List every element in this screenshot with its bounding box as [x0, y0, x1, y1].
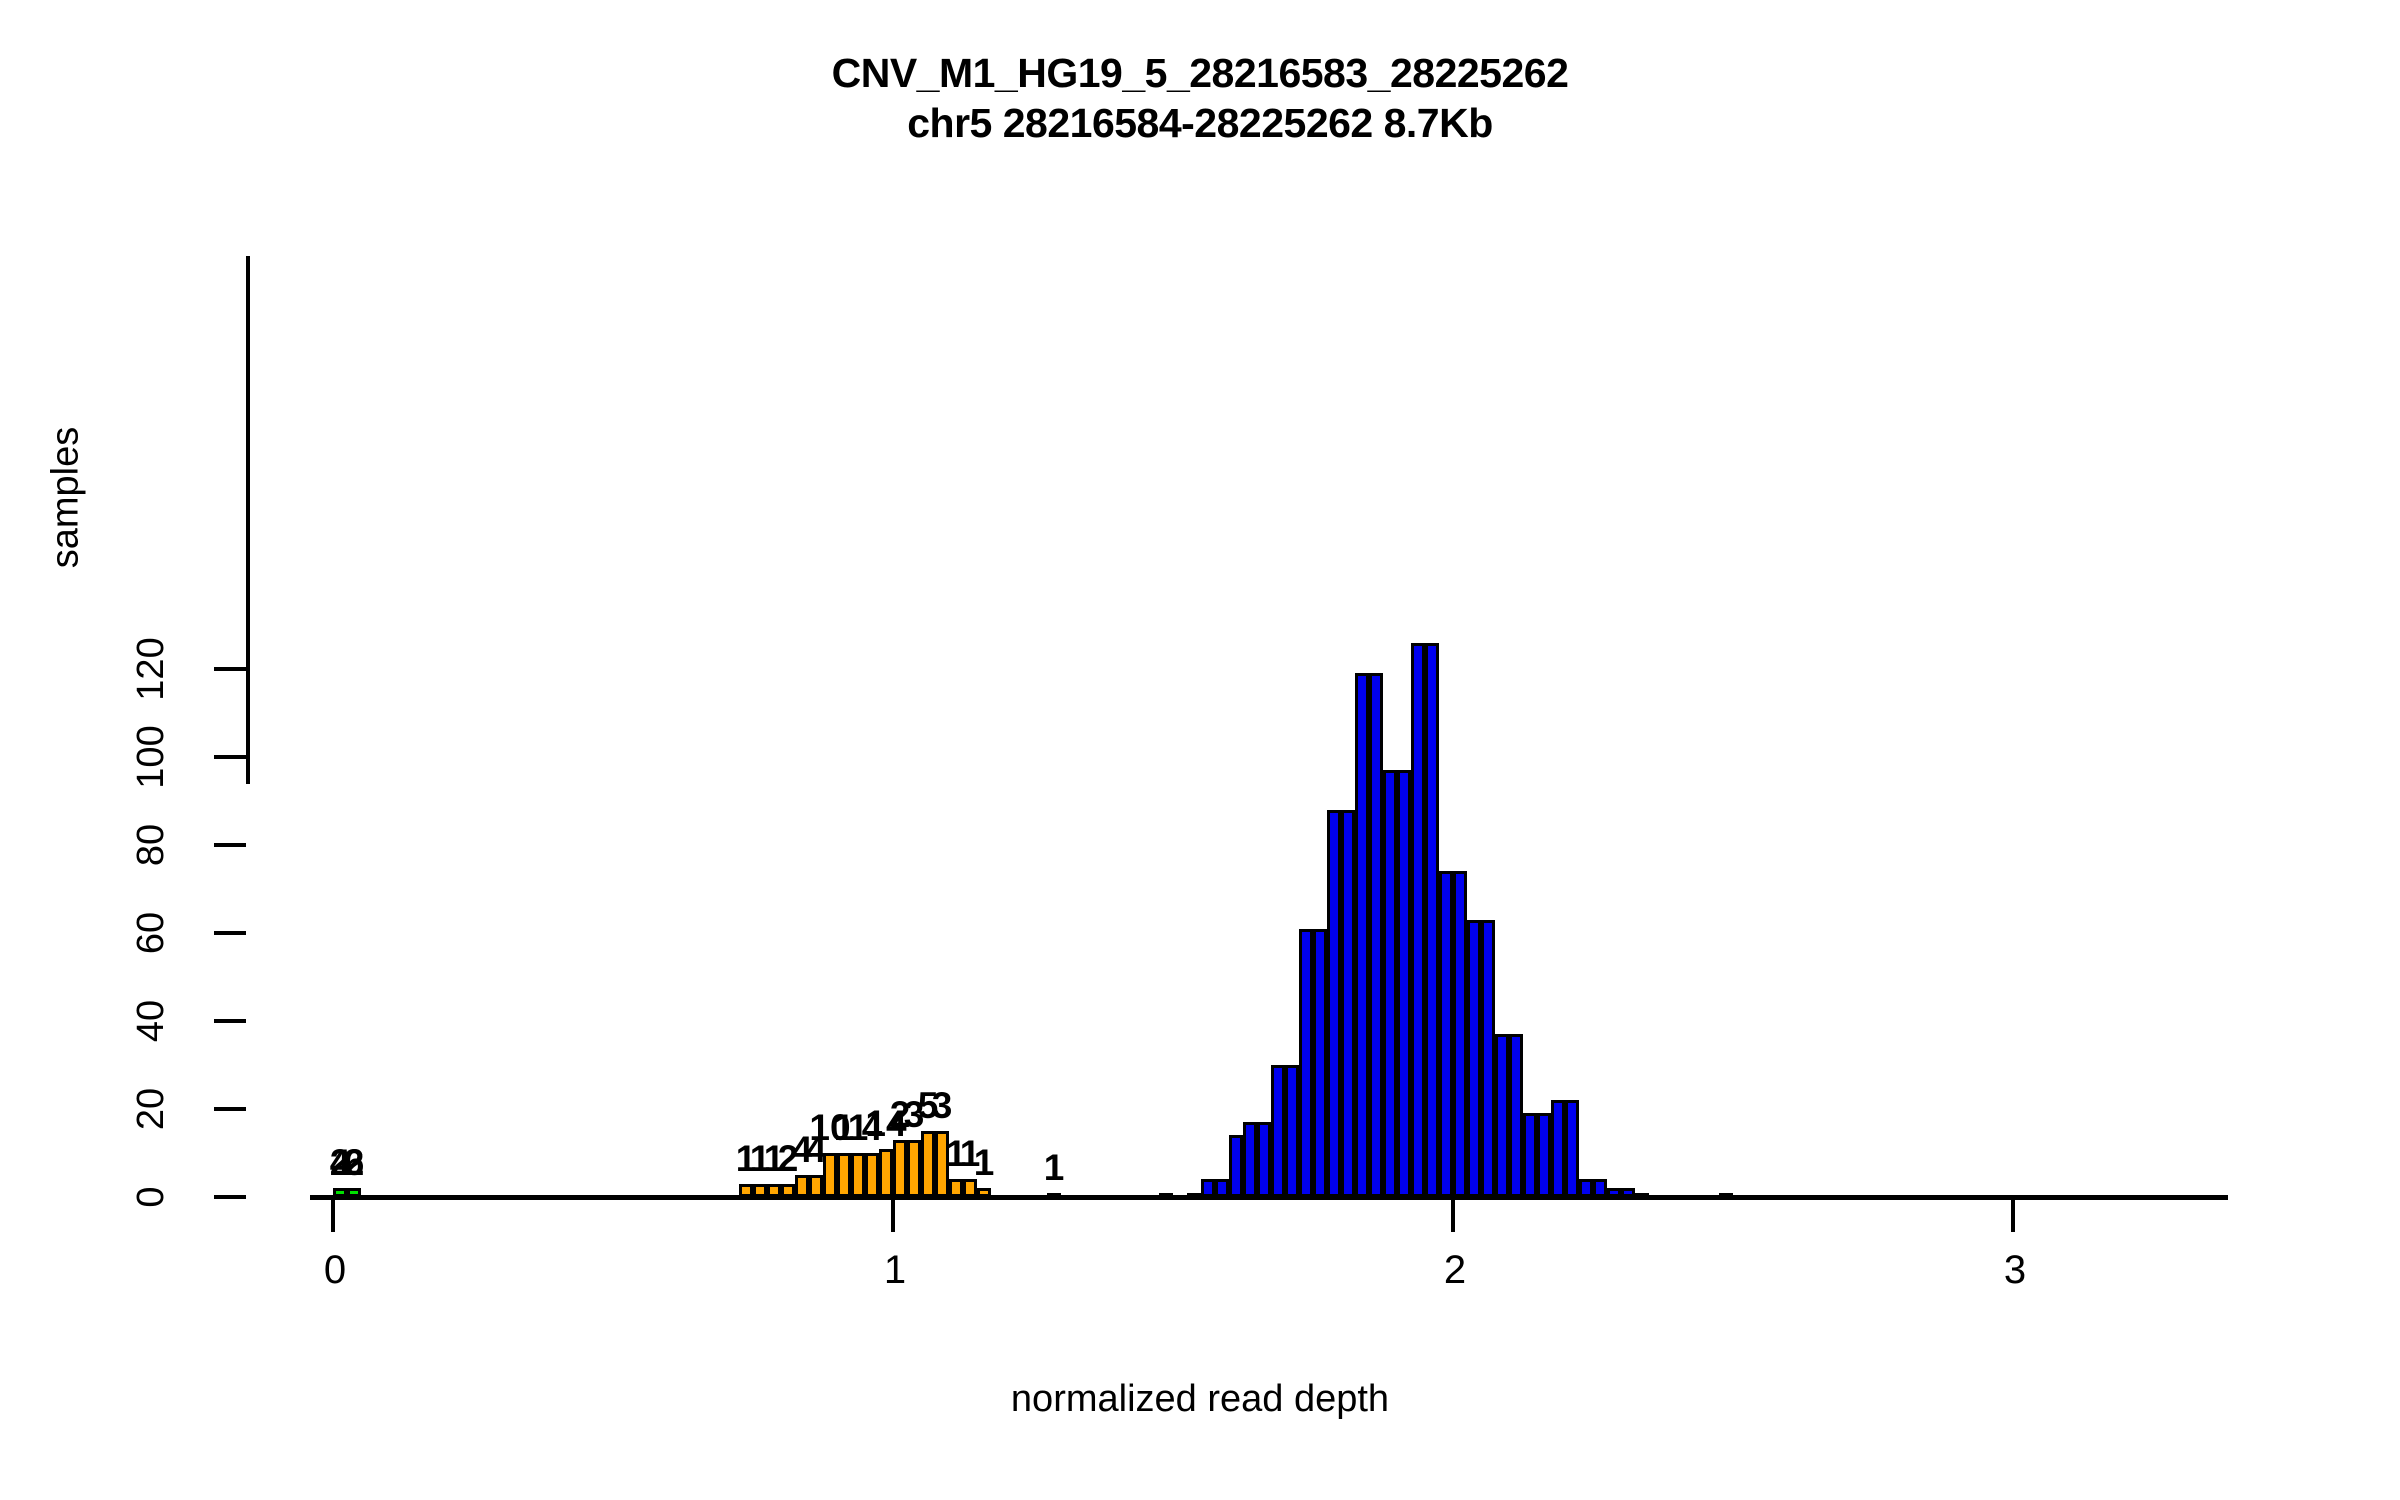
- histogram-bar: [1397, 770, 1411, 1197]
- bar-count-label: 1: [1024, 1149, 1084, 1187]
- histogram-bar: [333, 1188, 347, 1197]
- histogram-bar: [977, 1188, 991, 1197]
- histogram-bar: [1341, 810, 1355, 1197]
- histogram-bar: [907, 1140, 921, 1197]
- histogram-bar: [1383, 770, 1397, 1197]
- histogram-bar: [1621, 1188, 1635, 1197]
- histogram-bar: [1551, 1100, 1565, 1197]
- histogram-bar: [1509, 1034, 1523, 1197]
- histogram-bar: [865, 1153, 879, 1197]
- histogram-bar: [347, 1188, 361, 1197]
- histogram-bar: [1453, 871, 1467, 1197]
- histogram-bar: [1201, 1179, 1215, 1197]
- histogram-bar: [1411, 643, 1425, 1197]
- bar-count-label: 1: [954, 1144, 1014, 1182]
- histogram-bar: [1467, 920, 1481, 1197]
- histogram-bar: [1243, 1122, 1257, 1197]
- histogram-bar: [1579, 1179, 1593, 1197]
- histogram-bar: [1299, 929, 1313, 1197]
- histogram-bar: [1187, 1193, 1201, 1199]
- histogram-bar: [767, 1184, 781, 1197]
- histogram-bar: [1047, 1193, 1061, 1199]
- histogram-bar: [1537, 1113, 1551, 1197]
- histogram-bar: [1719, 1193, 1733, 1199]
- histogram-bar: [1523, 1113, 1537, 1197]
- histogram-bar: [1229, 1135, 1243, 1197]
- histogram-bar: [1327, 810, 1341, 1197]
- histogram-bar: [1285, 1065, 1299, 1197]
- histogram-bar: [1159, 1193, 1173, 1199]
- histogram-bar: [879, 1149, 893, 1197]
- histogram-bar: [795, 1175, 809, 1197]
- histogram-bar: [1439, 871, 1453, 1197]
- histogram-bar: [1271, 1065, 1285, 1197]
- histogram-bar: [1593, 1179, 1607, 1197]
- histogram-bar: [1369, 673, 1383, 1197]
- histogram-bar: [1565, 1100, 1579, 1197]
- histogram-bar: [753, 1184, 767, 1197]
- histogram-bar: [1425, 643, 1439, 1197]
- histogram-bar: [739, 1184, 753, 1197]
- histogram-bar: [837, 1153, 851, 1197]
- histogram-bar: [851, 1153, 865, 1197]
- histogram-bar: [893, 1140, 907, 1197]
- histogram-bar: [1215, 1179, 1229, 1197]
- histogram-bar: [1495, 1034, 1509, 1197]
- bar-count-label: 3: [912, 1087, 972, 1125]
- histogram-bar: [1257, 1122, 1271, 1197]
- histogram-bar: [781, 1184, 795, 1197]
- histogram-bar: [1313, 929, 1327, 1197]
- histogram-bar: [809, 1175, 823, 1197]
- histogram-bar: [1355, 673, 1369, 1197]
- bar-count-label-overlap: 2: [324, 1144, 384, 1182]
- histogram-bar: [1607, 1188, 1621, 1197]
- histogram-bar: [1635, 1193, 1649, 1199]
- histogram-plot-area: 2611124410114142353111142: [0, 0, 2400, 1500]
- histogram-bar: [1481, 920, 1495, 1197]
- histogram-bar: [823, 1153, 837, 1197]
- chart-canvas: CNV_M1_HG19_5_28216583_28225262 chr5 282…: [0, 0, 2400, 1500]
